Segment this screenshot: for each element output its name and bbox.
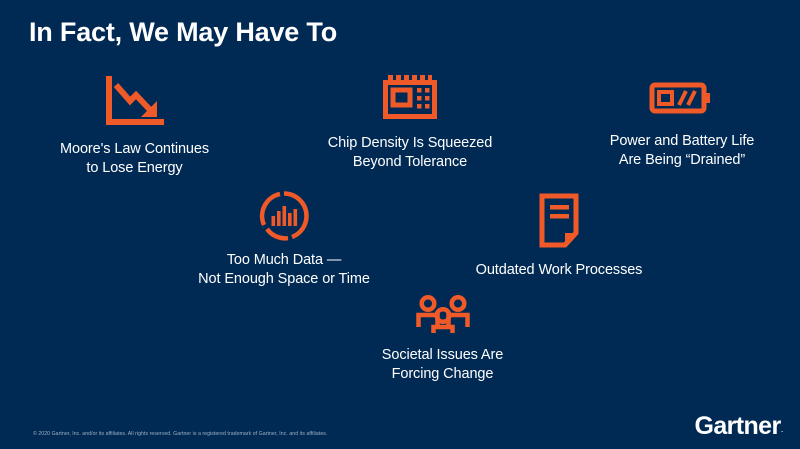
gartner-logo-text: Gartner xyxy=(694,412,780,440)
gartner-logo-mark: · xyxy=(781,426,783,436)
point-label: Societal Issues Are Forcing Change xyxy=(382,346,503,384)
copyright-text: © 2020 Gartner, Inc. and/or its affiliat… xyxy=(33,431,327,437)
battery-icon xyxy=(649,78,715,118)
presentation-slide: In Fact, We May Have To Moore's Law Cont… xyxy=(0,0,800,449)
point-label: Chip Density Is Squeezed Beyond Toleranc… xyxy=(328,134,492,172)
microchip-icon xyxy=(381,73,439,125)
point-label: Power and Battery Life Are Being “Draine… xyxy=(610,132,755,170)
people-group-icon xyxy=(415,294,471,336)
declining-chart-icon xyxy=(103,76,167,128)
point-societal-issues: Societal Issues Are Forcing Change xyxy=(335,294,550,384)
point-power-battery: Power and Battery Life Are Being “Draine… xyxy=(578,78,786,170)
page-title: In Fact, We May Have To xyxy=(29,17,337,48)
point-outdated-processes: Outdated Work Processes xyxy=(448,193,670,280)
point-moores-law: Moore's Law Continues to Lose Energy xyxy=(22,76,247,178)
point-label: Too Much Data — Not Enough Space or Time xyxy=(198,251,370,289)
point-label: Moore's Law Continues to Lose Energy xyxy=(60,140,209,178)
point-chip-density: Chip Density Is Squeezed Beyond Toleranc… xyxy=(295,73,525,172)
gartner-logo: Gartner· xyxy=(694,414,783,439)
point-too-much-data: Too Much Data — Not Enough Space or Time xyxy=(163,190,405,289)
point-label: Outdated Work Processes xyxy=(476,261,643,280)
data-analytics-circle-icon xyxy=(258,190,310,242)
document-icon xyxy=(537,193,581,249)
